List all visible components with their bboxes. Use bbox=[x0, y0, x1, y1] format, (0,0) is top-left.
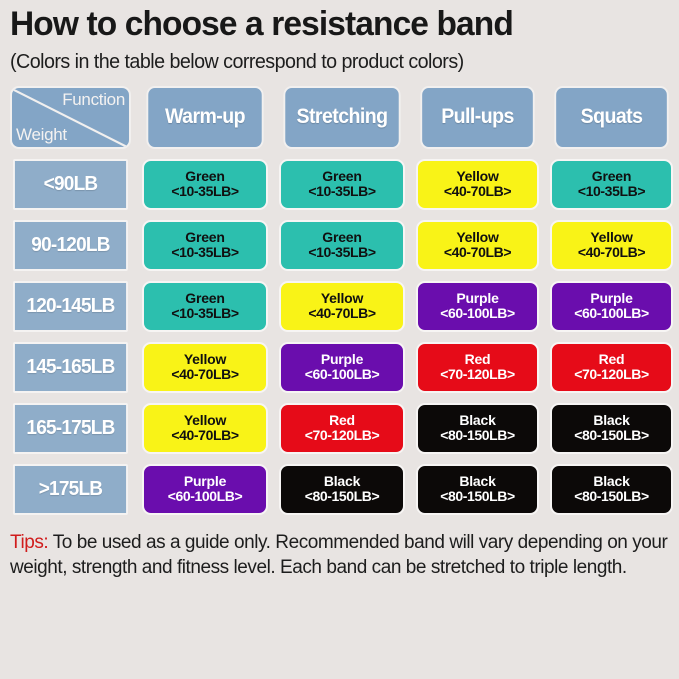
band-cell: Green<10-35LB> bbox=[142, 281, 268, 332]
row-weight-label: 165-175LB bbox=[13, 403, 128, 454]
row-weight-text: <90LB bbox=[44, 173, 98, 196]
row-weight-label: 120-145LB bbox=[13, 281, 128, 332]
band-cell: Yellow<40-70LB> bbox=[142, 403, 268, 454]
row-weight-text: 165-175LB bbox=[26, 417, 114, 440]
row-weight-text: 90-120LB bbox=[31, 234, 109, 257]
row-weight-text: 120-145LB bbox=[26, 295, 114, 318]
band-color-name: Purple bbox=[321, 352, 363, 368]
band-resistance-range: <60-100LB> bbox=[574, 306, 649, 322]
row-weight-label: 90-120LB bbox=[13, 220, 128, 271]
band-resistance-range: <40-70LB> bbox=[444, 245, 511, 261]
band-color-name: Yellow bbox=[321, 291, 363, 307]
band-cell: Yellow<40-70LB> bbox=[416, 220, 539, 271]
row-weight-label: 145-165LB bbox=[13, 342, 128, 393]
band-cell: Red<70-120LB> bbox=[279, 403, 405, 454]
band-color-name: Green bbox=[322, 169, 361, 185]
band-color-name: Green bbox=[185, 230, 224, 246]
band-resistance-range: <10-35LB> bbox=[171, 245, 238, 261]
row-weight-text: >175LB bbox=[39, 478, 103, 501]
band-resistance-range: <70-120LB> bbox=[574, 367, 649, 383]
band-color-name: Purple bbox=[590, 291, 632, 307]
band-color-name: Yellow bbox=[184, 413, 226, 429]
band-resistance-range: <80-150LB> bbox=[440, 489, 515, 505]
band-color-name: Yellow bbox=[590, 230, 632, 246]
band-resistance-range: <40-70LB> bbox=[171, 367, 238, 383]
band-resistance-range: <10-35LB> bbox=[308, 245, 375, 261]
band-cell: Yellow<40-70LB> bbox=[142, 342, 268, 393]
band-color-name: Purple bbox=[184, 474, 226, 490]
band-color-name: Purple bbox=[456, 291, 498, 307]
row-weight-text: 145-165LB bbox=[26, 356, 114, 379]
band-resistance-range: <10-35LB> bbox=[171, 184, 238, 200]
band-cell: Yellow<40-70LB> bbox=[416, 159, 539, 210]
band-resistance-range: <40-70LB> bbox=[308, 306, 375, 322]
table-corner-cell: FunctionWeight bbox=[10, 86, 131, 149]
corner-weight-label: Weight bbox=[16, 125, 67, 145]
band-color-name: Red bbox=[329, 413, 355, 429]
band-cell: Green<10-35LB> bbox=[550, 159, 673, 210]
band-color-name: Black bbox=[459, 474, 495, 490]
band-cell: Purple<60-100LB> bbox=[550, 281, 673, 332]
band-color-name: Yellow bbox=[456, 230, 498, 246]
corner-function-label: Function bbox=[62, 90, 125, 110]
tips-note: Tips: To be used as a guide only. Recomm… bbox=[10, 530, 669, 581]
band-resistance-range: <40-70LB> bbox=[578, 245, 645, 261]
band-color-name: Green bbox=[185, 291, 224, 307]
column-header-label: Pull-ups bbox=[441, 105, 514, 129]
band-color-name: Black bbox=[324, 474, 360, 490]
row-weight-label: >175LB bbox=[13, 464, 128, 515]
band-resistance-range: <80-150LB> bbox=[305, 489, 380, 505]
column-header-squats: Squats bbox=[554, 86, 668, 149]
band-color-name: Green bbox=[592, 169, 631, 185]
row-weight-label: <90LB bbox=[13, 159, 128, 210]
band-cell: Black<80-150LB> bbox=[550, 403, 673, 454]
band-resistance-range: <60-100LB> bbox=[168, 489, 243, 505]
band-cell: Green<10-35LB> bbox=[142, 159, 268, 210]
page-subtitle: (Colors in the table below correspond to… bbox=[10, 43, 659, 73]
band-cell: Green<10-35LB> bbox=[142, 220, 268, 271]
band-resistance-range: <40-70LB> bbox=[444, 184, 511, 200]
column-header-label: Stretching bbox=[297, 105, 388, 129]
band-color-name: Red bbox=[599, 352, 625, 368]
band-cell: Purple<60-100LB> bbox=[279, 342, 405, 393]
band-resistance-range: <70-120LB> bbox=[305, 428, 380, 444]
column-header-label: Warm-up bbox=[165, 105, 245, 129]
band-color-name: Red bbox=[465, 352, 491, 368]
band-color-name: Green bbox=[185, 169, 224, 185]
resistance-band-chart-page: How to choose a resistance band (Colors … bbox=[0, 0, 679, 679]
band-cell: Black<80-150LB> bbox=[550, 464, 673, 515]
band-resistance-range: <80-150LB> bbox=[574, 489, 649, 505]
column-header-warm-up: Warm-up bbox=[146, 86, 263, 149]
band-color-name: Black bbox=[459, 413, 495, 429]
band-color-name: Black bbox=[593, 413, 629, 429]
band-color-name: Yellow bbox=[184, 352, 226, 368]
column-header-pull-ups: Pull-ups bbox=[420, 86, 534, 149]
band-color-name: Yellow bbox=[456, 169, 498, 185]
band-resistance-range: <70-120LB> bbox=[440, 367, 515, 383]
band-color-name: Black bbox=[593, 474, 629, 490]
band-cell: Green<10-35LB> bbox=[279, 159, 405, 210]
column-header-label: Squats bbox=[581, 105, 643, 129]
band-color-name: Green bbox=[322, 230, 361, 246]
band-resistance-range: <80-150LB> bbox=[574, 428, 649, 444]
band-resistance-range: <40-70LB> bbox=[171, 428, 238, 444]
band-cell: Purple<60-100LB> bbox=[142, 464, 268, 515]
tips-label: Tips: bbox=[10, 532, 48, 553]
band-resistance-range: <80-150LB> bbox=[440, 428, 515, 444]
band-resistance-range: <10-35LB> bbox=[578, 184, 645, 200]
resistance-band-table: FunctionWeightWarm-upStretchingPull-upsS… bbox=[10, 86, 669, 515]
band-cell: Black<80-150LB> bbox=[416, 464, 539, 515]
band-cell: Black<80-150LB> bbox=[279, 464, 405, 515]
band-resistance-range: <60-100LB> bbox=[305, 367, 380, 383]
column-header-stretching: Stretching bbox=[283, 86, 400, 149]
tips-text: To be used as a guide only. Recommended … bbox=[10, 532, 667, 578]
band-cell: Red<70-120LB> bbox=[550, 342, 673, 393]
band-cell: Green<10-35LB> bbox=[279, 220, 405, 271]
band-resistance-range: <10-35LB> bbox=[308, 184, 375, 200]
band-cell: Yellow<40-70LB> bbox=[550, 220, 673, 271]
band-cell: Yellow<40-70LB> bbox=[279, 281, 405, 332]
page-title: How to choose a resistance band bbox=[10, 0, 659, 43]
band-resistance-range: <60-100LB> bbox=[440, 306, 515, 322]
band-cell: Red<70-120LB> bbox=[416, 342, 539, 393]
band-cell: Purple<60-100LB> bbox=[416, 281, 539, 332]
band-resistance-range: <10-35LB> bbox=[171, 306, 238, 322]
band-cell: Black<80-150LB> bbox=[416, 403, 539, 454]
